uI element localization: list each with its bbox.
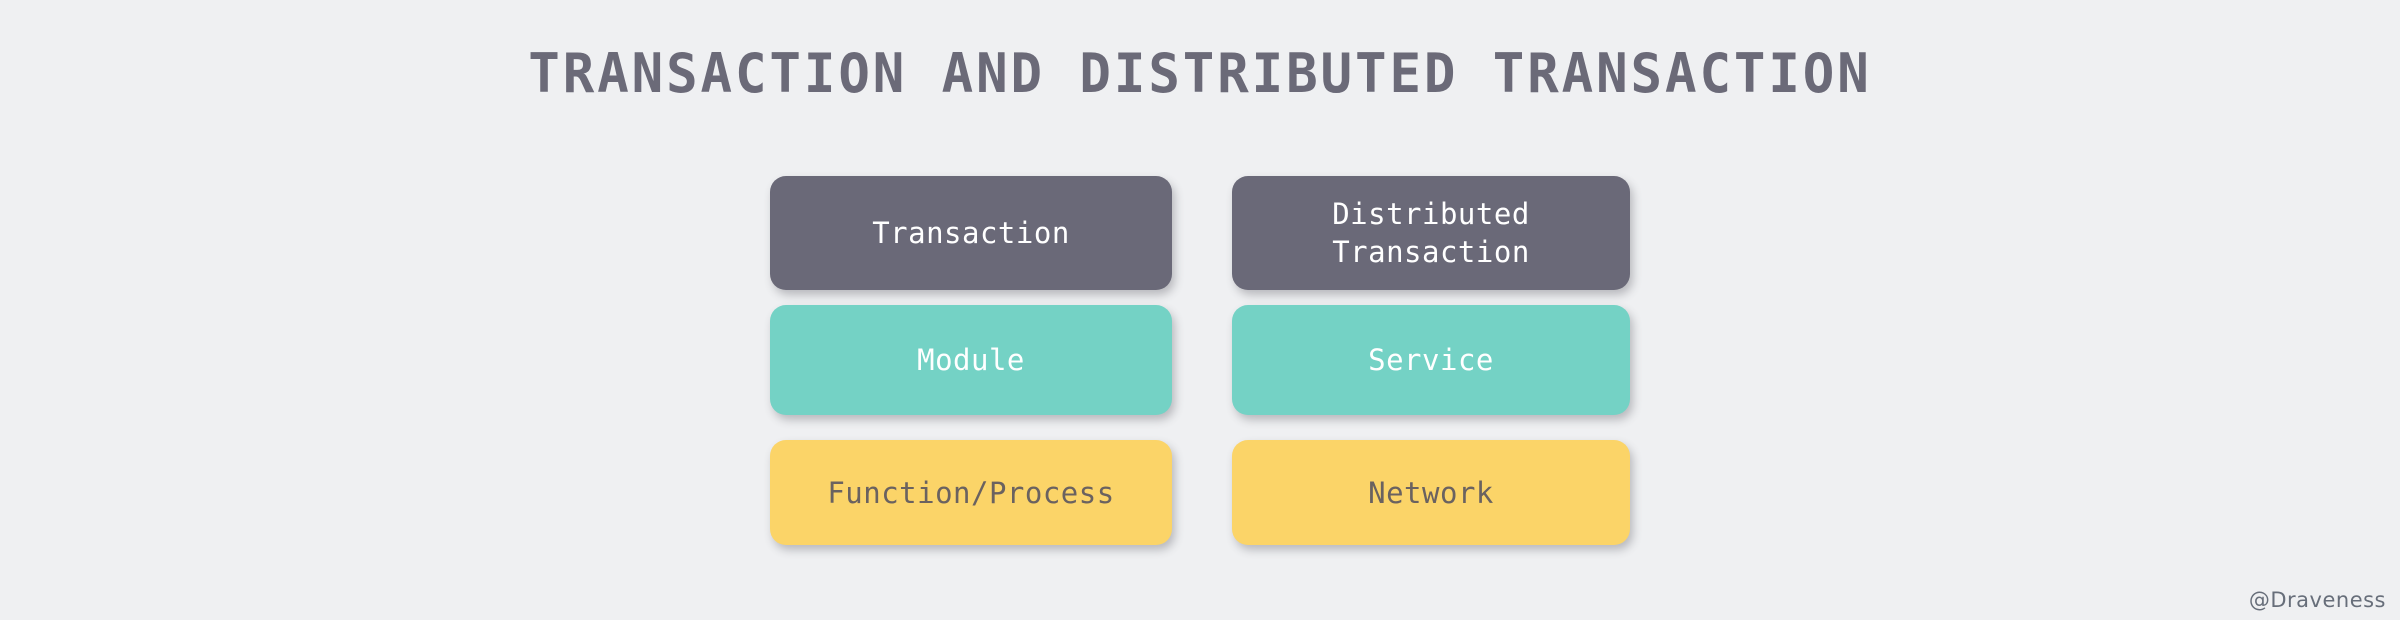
node-function-process-label: Function/Process [770,474,1172,512]
transaction-column: Transaction Module Function/Process [770,176,1172,546]
node-function-process[interactable]: Function/Process [770,440,1172,545]
node-service[interactable]: Service [1232,305,1630,415]
diagram-canvas: TRANSACTION AND DISTRIBUTED TRANSACTION … [0,0,2400,620]
distributed-transaction-column: Distributed Transaction Service Network [1232,176,1630,546]
node-network-label: Network [1232,474,1630,512]
node-network[interactable]: Network [1232,440,1630,545]
node-module[interactable]: Module [770,305,1172,415]
node-distributed-transaction-label: Distributed Transaction [1232,195,1630,271]
author-watermark: @Draveness [2249,588,2386,612]
node-module-label: Module [770,341,1172,379]
node-transaction-label: Transaction [770,214,1172,252]
layer-stack-grid: Transaction Module Function/Process Dist… [770,176,1630,546]
node-distributed-transaction[interactable]: Distributed Transaction [1232,176,1630,290]
node-transaction[interactable]: Transaction [770,176,1172,290]
page-title: TRANSACTION AND DISTRIBUTED TRANSACTION [36,42,2364,106]
node-service-label: Service [1232,341,1630,379]
